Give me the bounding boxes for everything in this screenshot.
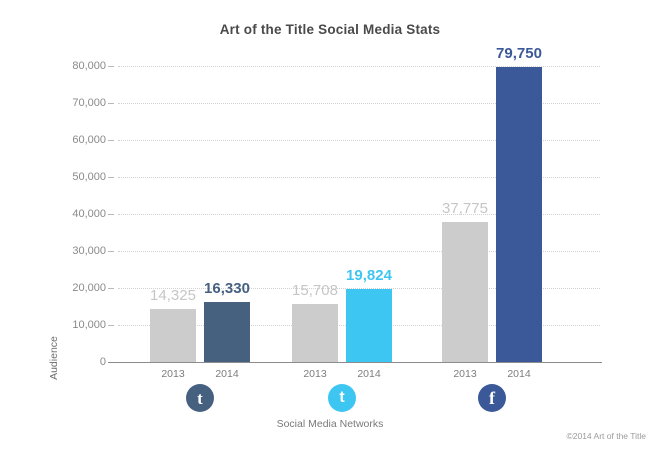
bar-facebook-2014[interactable] (496, 67, 542, 362)
y-axis-tick-mark (108, 325, 114, 326)
y-axis-tick-mark (108, 66, 114, 67)
twitter-icon: t (328, 384, 356, 412)
bar-twitter-2014[interactable] (346, 289, 392, 362)
y-axis-tick-mark (108, 288, 114, 289)
x-axis-tick-label: 2014 (215, 368, 238, 380)
y-axis-tick-mark (108, 177, 114, 178)
social-icon-glyph: t (339, 390, 344, 406)
x-axis-label: Social Media Networks (0, 418, 660, 430)
x-axis-tick-label: 2013 (161, 368, 184, 380)
bar-value-label: 16,330 (204, 280, 250, 297)
bar-value-label: 15,708 (292, 282, 338, 299)
bar-tumblr-2013[interactable] (150, 309, 196, 362)
y-axis-label-holder: Audience (32, 150, 52, 270)
bar-twitter-2013[interactable] (292, 304, 338, 362)
x-axis-tick-label: 2013 (453, 368, 476, 380)
bar-value-label: 79,750 (496, 45, 542, 62)
y-axis-tick-label: 0 (36, 356, 106, 368)
bar-facebook-2013[interactable] (442, 222, 488, 362)
x-axis-baseline (112, 362, 602, 363)
y-axis-tick-mark (108, 251, 114, 252)
social-icon-glyph: t (197, 390, 203, 407)
y-axis-tick-label: 70,000 (36, 97, 106, 109)
social-icon-glyph: f (489, 389, 495, 407)
y-axis-tick-label: 60,000 (36, 134, 106, 146)
y-axis-tick-mark (108, 140, 114, 141)
chart-container: Art of the Title Social Media Stats 010,… (0, 0, 660, 458)
bar-tumblr-2014[interactable] (204, 302, 250, 362)
bar-value-label: 14,325 (150, 287, 196, 304)
facebook-icon: f (478, 384, 506, 412)
bar-value-label: 19,824 (346, 267, 392, 284)
y-axis-tick-label: 80,000 (36, 60, 106, 72)
bar-value-label: 37,775 (442, 200, 488, 217)
y-axis-tick-label: 20,000 (36, 282, 106, 294)
tumblr-icon: t (186, 384, 214, 412)
y-axis-label: Audience (48, 318, 60, 398)
x-axis-tick-label: 2014 (507, 368, 530, 380)
y-axis-tick-mark (108, 214, 114, 215)
y-axis-tick-mark (108, 103, 114, 104)
copyright-notice: ©2014 Art of the Title (566, 431, 646, 441)
x-axis-tick-label: 2013 (303, 368, 326, 380)
x-axis-tick-label: 2014 (357, 368, 380, 380)
y-axis-tick-label: 10,000 (36, 319, 106, 331)
